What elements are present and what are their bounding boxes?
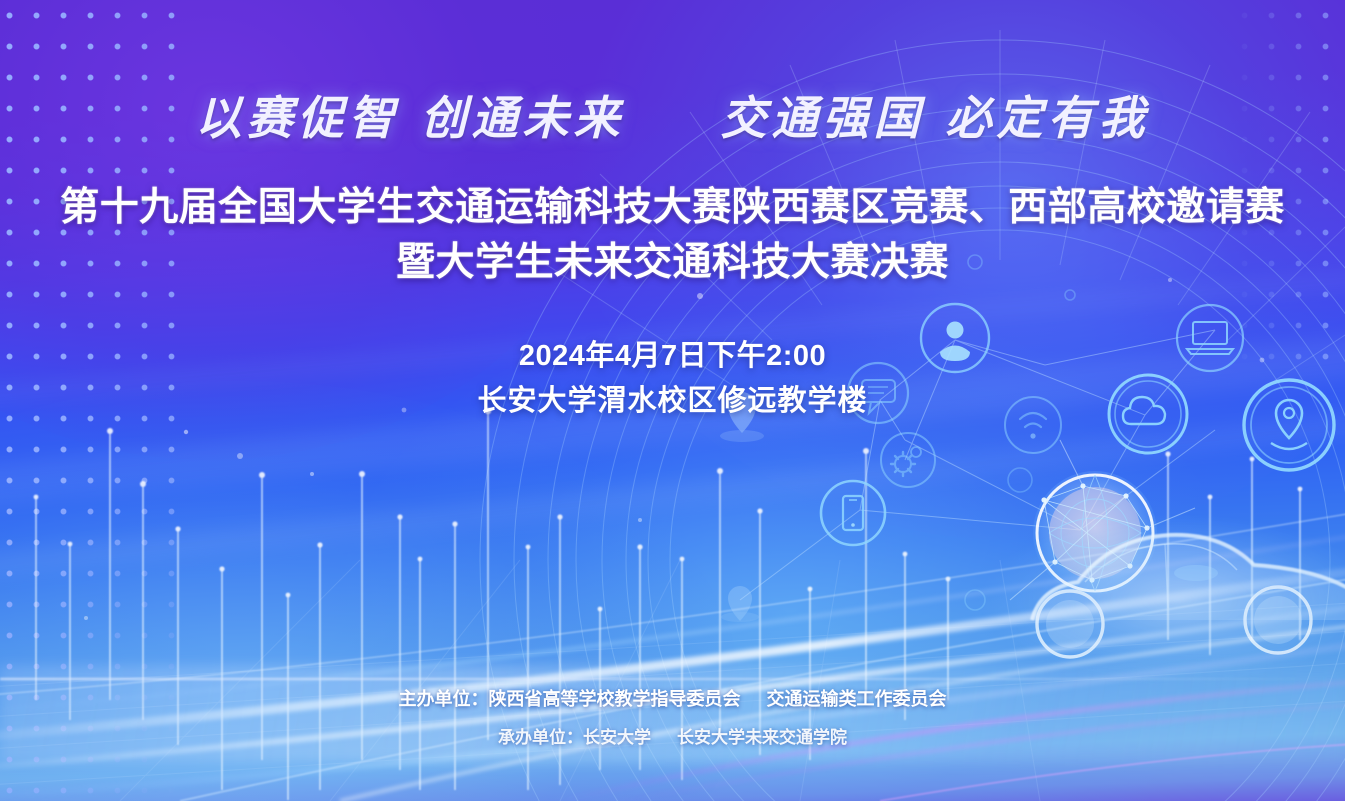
event-datetime: 2024年4月7日下午2:00	[0, 332, 1345, 374]
co-label: 承办单位：	[498, 728, 583, 747]
co-org-2: 长安大学未来交通学院	[677, 728, 847, 747]
slogan-part-2: 交通强国 必定有我	[721, 91, 1150, 145]
host-org-1: 陕西省高等学校教学指导委员会	[489, 689, 741, 709]
co-organizers-row: 承办单位：长安大学长安大学未来交通学院	[0, 723, 1345, 748]
slogan-part-1: 以赛促智 创通未来	[195, 91, 624, 145]
event-title-line-1: 第十九届全国大学生交通运输科技大赛陕西赛区竞赛、西部高校邀请赛	[0, 176, 1345, 232]
event-title-line-2: 暨大学生未来交通科技大赛决赛	[0, 231, 1345, 287]
event-venue: 长安大学渭水校区修远教学楼	[0, 377, 1345, 419]
event-banner: 以赛促智 创通未来 交通强国 必定有我 第十九届全国大学生交通运输科技大赛陕西赛…	[0, 0, 1345, 801]
co-org-1: 长安大学	[583, 728, 651, 747]
host-label: 主办单位：	[399, 689, 489, 709]
host-org-2: 交通运输类工作委员会	[767, 689, 947, 709]
slogan: 以赛促智 创通未来 交通强国 必定有我	[0, 82, 1345, 148]
banner-content: 以赛促智 创通未来 交通强国 必定有我 第十九届全国大学生交通运输科技大赛陕西赛…	[0, 0, 1345, 801]
host-organizers-row: 主办单位：陕西省高等学校教学指导委员会交通运输类工作委员会	[0, 685, 1345, 711]
